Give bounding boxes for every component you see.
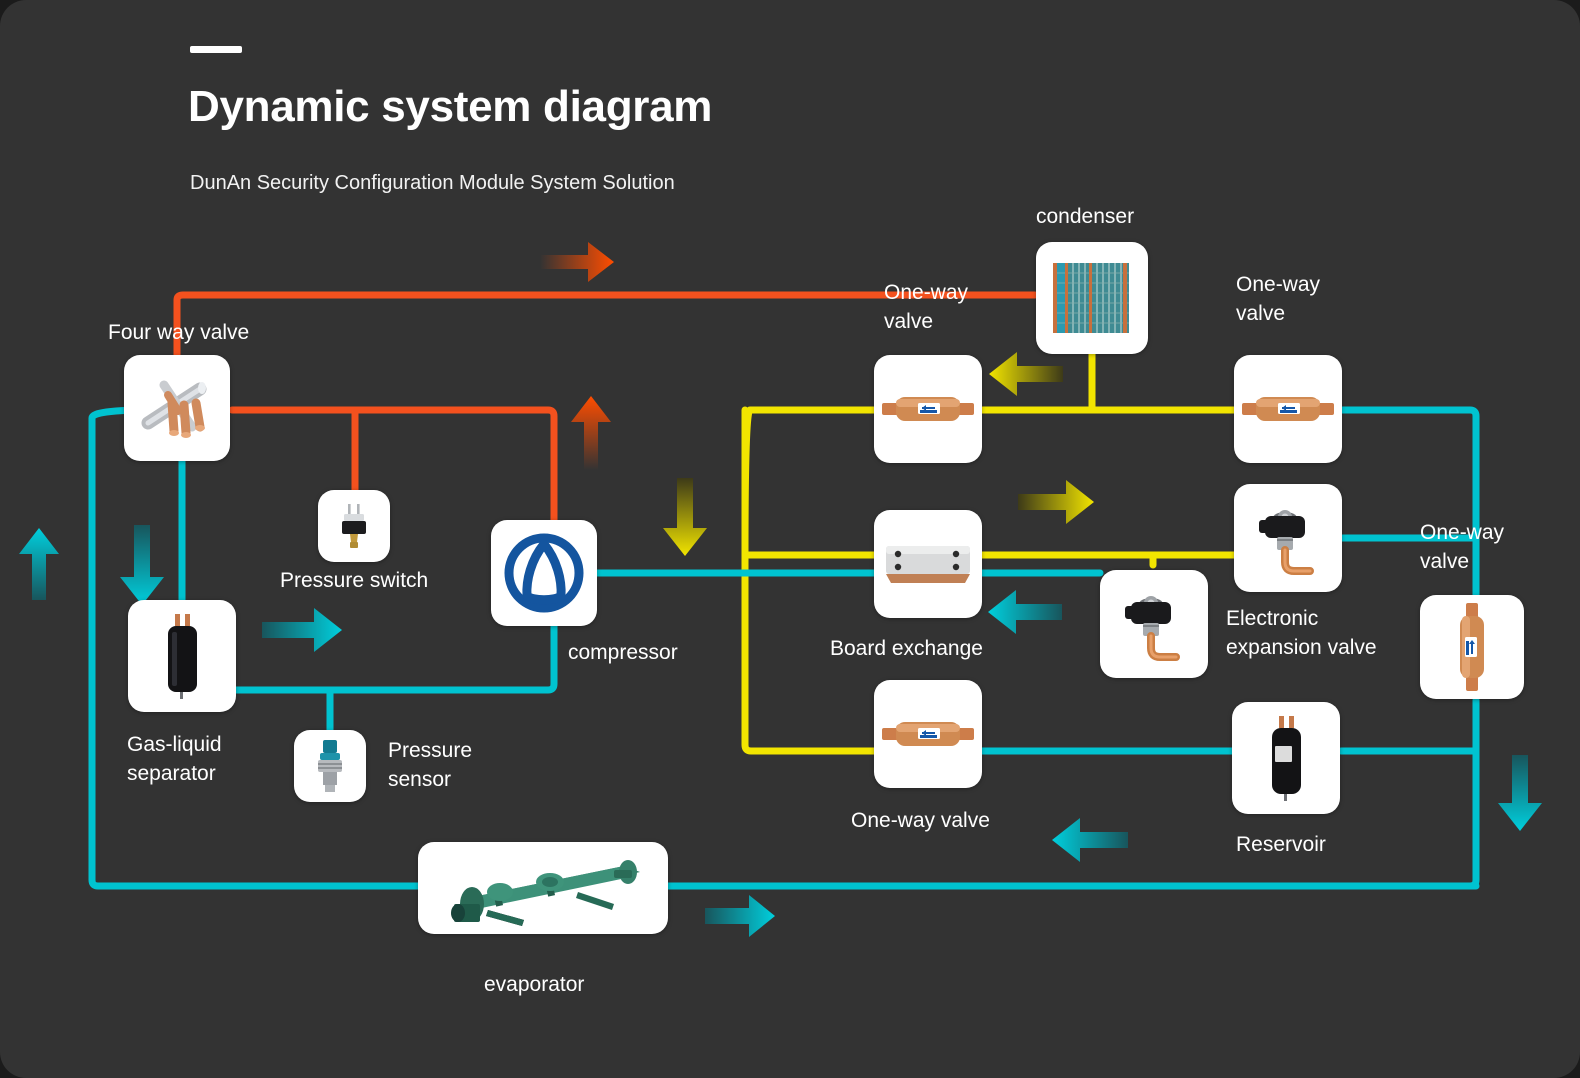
arrow-condenser-left bbox=[989, 352, 1063, 396]
arrow-separator-right bbox=[262, 608, 342, 652]
one-way-valve-photo bbox=[1240, 389, 1336, 429]
electronic-expansion-valve-photo bbox=[1243, 500, 1333, 576]
pressure-switch-photo bbox=[326, 498, 382, 554]
reservoir-photo bbox=[1255, 712, 1317, 804]
label-one-way-valve-bottom: One-way valve bbox=[851, 806, 990, 835]
label-evaporator: evaporator bbox=[484, 970, 584, 999]
component-pressure-switch[interactable] bbox=[318, 490, 390, 562]
component-condenser[interactable] bbox=[1036, 242, 1148, 354]
component-gas-liquid-separator[interactable] bbox=[128, 600, 236, 712]
arrow-separator-down bbox=[120, 525, 164, 605]
component-one-way-valve-top-left[interactable] bbox=[874, 355, 982, 463]
component-evaporator[interactable] bbox=[418, 842, 668, 934]
label-pressure-switch: Pressure switch bbox=[280, 566, 428, 595]
component-compressor[interactable] bbox=[491, 520, 597, 626]
arrow-evaporator-right bbox=[705, 895, 775, 937]
plate-heat-exchanger-photo bbox=[882, 538, 974, 590]
gas-liquid-separator-photo bbox=[151, 610, 213, 702]
arrow-liquid-right bbox=[1018, 480, 1094, 524]
label-pressure-sensor: Pressure sensor bbox=[388, 736, 472, 794]
label-compressor: compressor bbox=[568, 638, 678, 667]
label-condenser: condenser bbox=[1036, 202, 1134, 231]
pipe-network bbox=[0, 0, 1580, 1078]
component-electronic-expansion-valve-2[interactable] bbox=[1100, 570, 1208, 678]
condenser-photo bbox=[1045, 251, 1139, 345]
component-one-way-valve-bottom[interactable] bbox=[874, 680, 982, 788]
arrow-liquid-down bbox=[663, 478, 707, 556]
arrow-far-left-up bbox=[19, 528, 59, 600]
component-four-way-valve[interactable] bbox=[124, 355, 230, 461]
diagram-canvas: Dynamic system diagram DunAn Security Co… bbox=[0, 0, 1580, 1078]
component-electronic-expansion-valve[interactable] bbox=[1234, 484, 1342, 592]
electronic-expansion-valve-photo bbox=[1109, 586, 1199, 662]
arrow-eev-to-board bbox=[988, 590, 1062, 634]
label-one-way-valve-top-left: One-way valve bbox=[884, 278, 968, 336]
arrow-top-discharge bbox=[540, 242, 614, 282]
label-gas-liquid-separator: Gas-liquid separator bbox=[127, 730, 222, 788]
evaporator-photo bbox=[428, 848, 658, 928]
pressure-sensor-photo bbox=[307, 737, 353, 795]
arrow-compressor-up bbox=[571, 396, 611, 470]
label-one-way-valve-right-edge: One-way valve bbox=[1420, 518, 1504, 576]
one-way-valve-photo bbox=[880, 714, 976, 754]
one-way-valve-photo bbox=[880, 389, 976, 429]
label-electronic-expansion-valve: Electronic expansion valve bbox=[1226, 604, 1377, 662]
component-one-way-valve-top-right[interactable] bbox=[1234, 355, 1342, 463]
arrow-reservoir-left bbox=[1052, 818, 1128, 862]
component-reservoir[interactable] bbox=[1232, 702, 1340, 814]
label-one-way-valve-top-right: One-way valve bbox=[1236, 270, 1320, 328]
arrow-right-edge-down bbox=[1498, 755, 1542, 831]
compressor-logo bbox=[501, 530, 587, 616]
component-board-exchange[interactable] bbox=[874, 510, 982, 618]
four-way-valve-photo bbox=[134, 365, 220, 451]
label-four-way-valve: Four way valve bbox=[108, 318, 249, 347]
component-pressure-sensor[interactable] bbox=[294, 730, 366, 802]
component-one-way-valve-right-edge[interactable] bbox=[1420, 595, 1524, 699]
label-reservoir: Reservoir bbox=[1236, 830, 1326, 859]
one-way-valve-vertical-photo bbox=[1452, 601, 1492, 693]
label-board-exchange: Board exchange bbox=[830, 634, 983, 663]
